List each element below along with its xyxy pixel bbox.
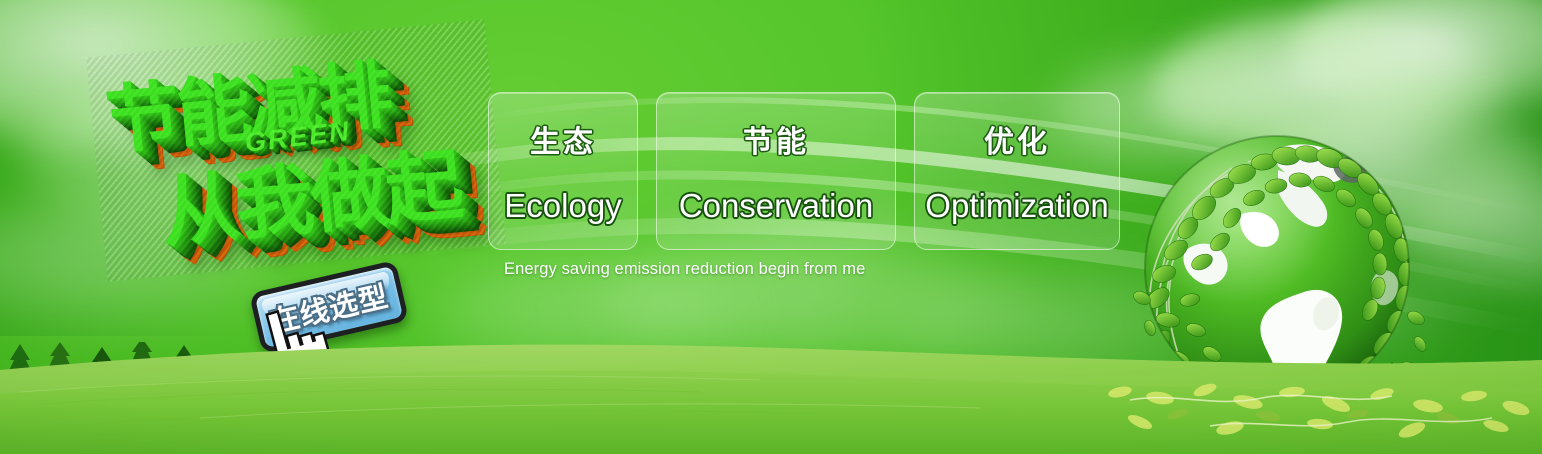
- vignette-overlay: [0, 0, 1542, 454]
- green-energy-banner: 节能减排 GREEN 从我做起 在线选型 生态 Ecology 节能 Conse…: [0, 0, 1542, 454]
